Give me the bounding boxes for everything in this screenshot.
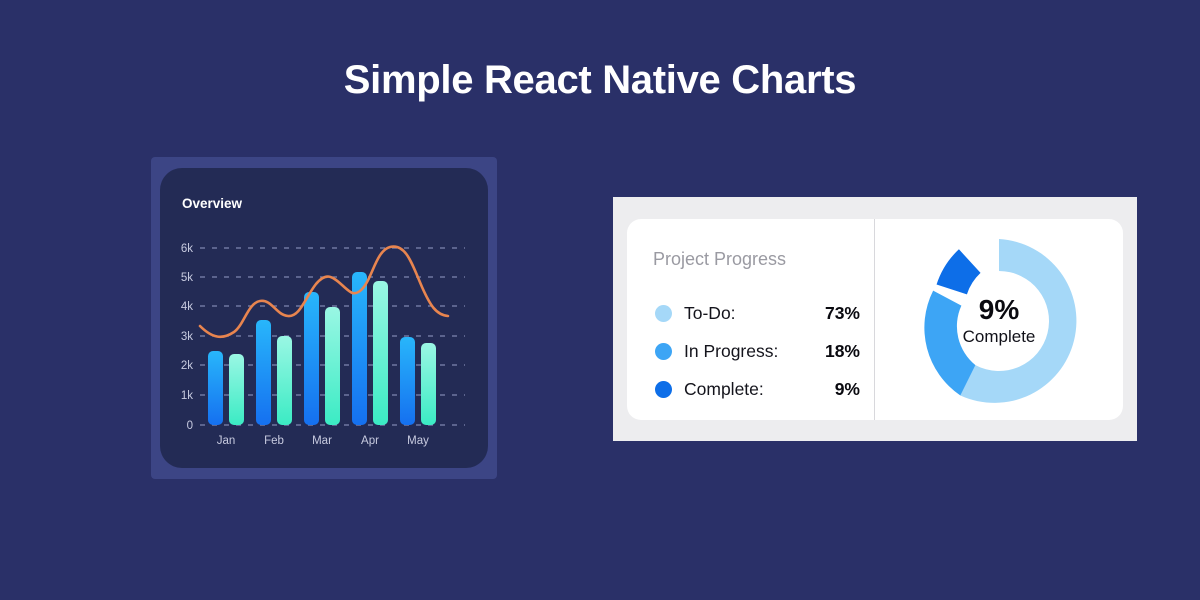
progress-heading: Project Progress (653, 249, 786, 270)
donut-slice-complete-group[interactable] (937, 249, 981, 294)
bar-may-a (400, 337, 415, 425)
legend-item-to-do[interactable]: To-Do: 73% (655, 294, 860, 332)
svg-text:Mar: Mar (312, 435, 332, 447)
svg-text:2k: 2k (181, 360, 193, 372)
donut-chart-svg (893, 227, 1105, 415)
progress-legend: To-Do: 73% In Progress: 18% Complete: 9% (655, 294, 860, 408)
bar-feb-b (277, 336, 292, 425)
page-root: Simple React Native Charts Overview (0, 0, 1200, 600)
legend-value-complete: 9% (835, 379, 860, 400)
bar-mar-a (304, 292, 319, 425)
bar-apr-a (352, 272, 367, 425)
svg-text:1k: 1k (181, 390, 193, 402)
legend-label-in-progress: In Progress: (684, 341, 825, 362)
legend-value-in-progress: 18% (825, 341, 860, 362)
trend-line (200, 247, 448, 337)
bar-mar-b (325, 307, 340, 425)
donut-slice-to-do[interactable] (960, 239, 1076, 403)
legend-dot-in-progress (655, 343, 672, 360)
svg-text:5k: 5k (181, 272, 193, 284)
donut-chart: 9% Complete (893, 227, 1105, 415)
donut-slice-complete[interactable] (937, 249, 981, 294)
bar-chart-svg: 6k 5k 4k 3k 2k 1k 0 (160, 168, 488, 468)
legend-label-to-do: To-Do: (684, 303, 825, 324)
svg-text:Apr: Apr (361, 435, 379, 447)
svg-text:4k: 4k (181, 301, 193, 313)
svg-text:Feb: Feb (264, 435, 284, 447)
progress-donut-panel: 9% Complete (875, 219, 1123, 420)
progress-card: Project Progress To-Do: 73% In Progress:… (627, 219, 1123, 420)
legend-dot-to-do (655, 305, 672, 322)
svg-text:0: 0 (187, 420, 193, 432)
bar-feb-a (256, 320, 271, 425)
legend-label-complete: Complete: (684, 379, 835, 400)
bar-apr-b (373, 281, 388, 425)
legend-item-in-progress[interactable]: In Progress: 18% (655, 332, 860, 370)
legend-item-complete[interactable]: Complete: 9% (655, 370, 860, 408)
svg-text:6k: 6k (181, 243, 193, 255)
page-title: Simple React Native Charts (0, 58, 1200, 103)
y-axis-tick-labels: 6k 5k 4k 3k 2k 1k 0 (181, 243, 193, 432)
progress-legend-panel: Project Progress To-Do: 73% In Progress:… (627, 219, 875, 420)
legend-value-to-do: 73% (825, 303, 860, 324)
x-axis-tick-labels: Jan Feb Mar Apr May (217, 435, 429, 447)
svg-text:3k: 3k (181, 331, 193, 343)
bar-jan-a (208, 351, 223, 425)
bar-chart-card-frame: Overview (151, 157, 497, 479)
donut-slice-in-progress[interactable] (924, 291, 975, 396)
bar-jan-b (229, 354, 244, 425)
bar-chart-card: Overview (160, 168, 488, 468)
legend-dot-complete (655, 381, 672, 398)
svg-text:Jan: Jan (217, 435, 236, 447)
bars (208, 272, 436, 425)
bar-may-b (421, 343, 436, 425)
svg-text:May: May (407, 435, 429, 447)
progress-card-frame: Project Progress To-Do: 73% In Progress:… (613, 197, 1137, 441)
